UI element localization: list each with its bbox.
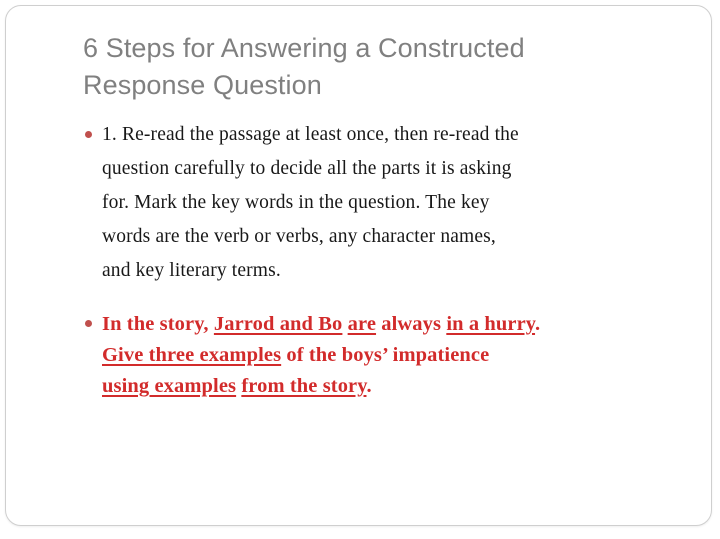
text-segment: . xyxy=(535,313,540,335)
text-segment: of the boys’ impatience xyxy=(281,344,489,366)
bullet-line: In the story, Jarrod and Bo are always i… xyxy=(102,309,673,340)
bullet-item-steps: 1. Re-read the passage at least once, th… xyxy=(6,118,712,288)
text-segment: always xyxy=(376,313,446,335)
bullet-line: and key literary terms. xyxy=(102,254,673,288)
page-title: 6 Steps for Answering a Constructed Resp… xyxy=(83,30,663,104)
underlined-segment: from the story xyxy=(241,375,366,397)
underlined-segment: Give three examples xyxy=(102,344,281,366)
bullet-line: using examples from the story. xyxy=(102,371,673,402)
text-segment: . xyxy=(366,375,371,397)
bullet-dot-icon xyxy=(85,131,92,138)
bullet-line: words are the verb or verbs, any charact… xyxy=(102,220,673,254)
bullet-line: 1. Re-read the passage at least once, th… xyxy=(102,118,673,152)
bullet-line: question carefully to decide all the par… xyxy=(102,152,673,186)
bullet-line: for. Mark the key words in the question.… xyxy=(102,186,673,220)
bullet-line: Give three examples of the boys’ impatie… xyxy=(102,340,673,371)
underlined-segment: Jarrod and Bo xyxy=(214,313,343,335)
text-segment: In the story, xyxy=(102,313,214,335)
bullet-item-question: In the story, Jarrod and Bo are always i… xyxy=(6,309,712,402)
bullet-dot-icon xyxy=(85,320,92,327)
underlined-segment: in a hurry xyxy=(446,313,535,335)
underlined-segment: using examples xyxy=(102,375,236,397)
slide-content: 1. Re-read the passage at least once, th… xyxy=(6,118,712,402)
underlined-segment: are xyxy=(348,313,376,335)
slide-card: 6 Steps for Answering a Constructed Resp… xyxy=(5,5,712,526)
